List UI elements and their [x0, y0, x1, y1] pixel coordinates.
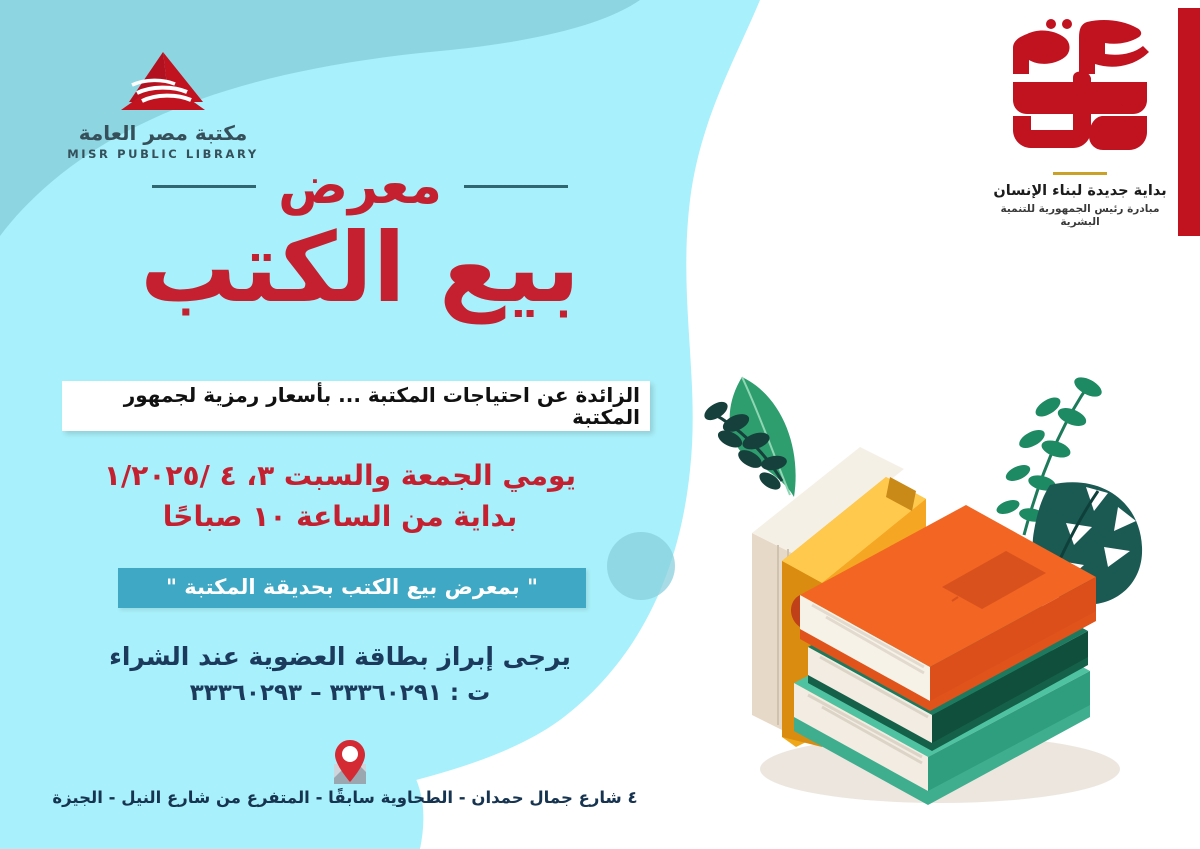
kicker-rule-left [152, 185, 256, 188]
library-name-ar: مكتبة مصر العامة [58, 122, 268, 144]
location-pin-wrap [328, 738, 372, 786]
bidaya-calligraphy-icon [991, 12, 1169, 162]
phone-numbers: ت : ٣٣٣٦٠٢٩١ – ٣٣٣٦٠٢٩٣ [40, 676, 640, 711]
poster-canvas: مكتبة مصر العامة MISR PUBLIC LIBRARY بدا… [0, 0, 1200, 849]
address-text: ٤ شارع جمال حمدان - الطحاوية سابقًا - ال… [40, 788, 650, 809]
library-logo: مكتبة مصر العامة MISR PUBLIC LIBRARY [58, 50, 268, 161]
bidaya-tagline-secondary: مبادرة رئيس الجمهورية للتنمية البشرية [982, 203, 1178, 228]
kicker-rule-right [464, 185, 568, 188]
event-kicker: معرض [278, 160, 442, 212]
gold-divider [1053, 172, 1107, 175]
kicker-row: معرض [40, 160, 680, 212]
schedule-time: بداية من الساعة ١٠ صباحًا [40, 497, 640, 538]
decorative-circle [607, 532, 675, 600]
subtitle-text: الزائدة عن احتياجات المكتبة ... بأسعار ر… [62, 384, 650, 428]
bidaya-tagline-primary: بداية جديدة لبناء الإنسان [982, 183, 1178, 200]
venue-text: " بمعرض بيع الكتب بحديقة المكتبة " [166, 576, 538, 599]
bidaya-logo: بداية جديدة لبناء الإنسان مبادرة رئيس ال… [982, 8, 1178, 229]
notes-block: يرجى إبراز بطاقة العضوية عند الشراء ت : … [40, 638, 640, 710]
page-title: بيع الكتب [40, 218, 680, 319]
isometric-book-stack-illustration [690, 365, 1160, 825]
map-pin-icon [328, 738, 372, 786]
library-name-en: MISR PUBLIC LIBRARY [58, 147, 268, 161]
schedule-block: يومي الجمعة والسبت ٣، ٤ /١/٢٠٢٥ بداية من… [40, 456, 640, 537]
subtitle-banner: الزائدة عن احتياجات المكتبة ... بأسعار ر… [62, 381, 650, 431]
schedule-days: يومي الجمعة والسبت ٣، ٤ /١/٢٠٢٥ [40, 456, 640, 497]
membership-note: يرجى إبراز بطاقة العضوية عند الشراء [40, 638, 640, 676]
headline-block: معرض بيع الكتب [40, 160, 680, 319]
pyramid-logo-icon [111, 50, 215, 116]
venue-banner: " بمعرض بيع الكتب بحديقة المكتبة " [118, 568, 586, 608]
bidaya-red-bar [1178, 8, 1200, 236]
